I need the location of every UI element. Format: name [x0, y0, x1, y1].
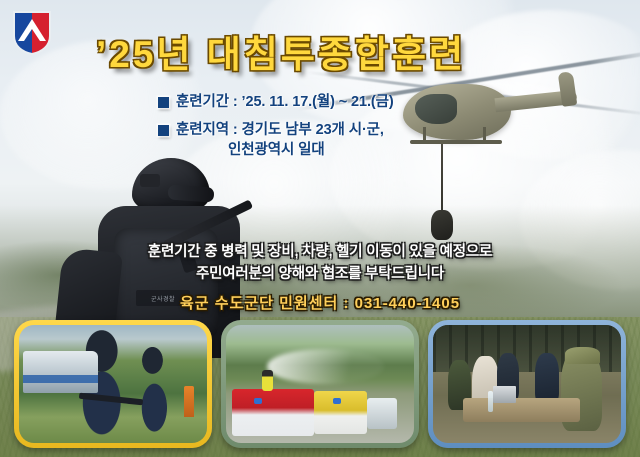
bullet-row-training-area: 훈련지역 : 경기도 남부 23개 시·군,인천광역시 일대	[158, 120, 588, 161]
police-bus	[23, 351, 98, 393]
notice-line-1: 훈련기간 중 병력 및 장비, 차량, 헬기 이동이 있을 예정으로	[0, 241, 640, 263]
camouflage-cap	[565, 347, 601, 364]
bus-stripe	[23, 375, 98, 383]
rappelling-soldier	[431, 210, 453, 240]
notice-line-2: 주민여러분의 양해와 협조를 부탁드립니다	[0, 263, 640, 285]
photo-card-fire	[221, 320, 419, 448]
bullet-row-training-period: 훈련기간 : ’25. 11. 17.(월) ~ 21.(금)	[158, 92, 588, 113]
firefighter-figure	[262, 370, 273, 391]
police-scene	[19, 325, 207, 443]
water-bottle-icon	[488, 391, 494, 412]
photo-fire-drill	[226, 325, 414, 443]
fire-engine-yellow	[314, 391, 367, 433]
poster-title: ’25년 대침투종합훈련	[96, 24, 566, 78]
water-spray	[267, 349, 384, 384]
training-area-line1: 훈련지역 : 경기도 남부 23개 시·군,	[176, 122, 384, 138]
training-area-text: 훈련지역 : 경기도 남부 23개 시·군,인천광역시 일대	[176, 120, 384, 161]
command-post-scene	[433, 325, 621, 443]
square-bullet-icon	[158, 97, 169, 108]
person-figure	[535, 353, 559, 403]
night-vision-mount-icon	[140, 174, 160, 187]
rifle-icon	[79, 392, 143, 405]
helmet-visor	[168, 184, 215, 202]
notice-message-block: 훈련기간 중 병력 및 장비, 차량, 헬기 이동이 있을 예정으로 주민여러분…	[0, 241, 640, 313]
fire-engine-red	[232, 389, 315, 436]
photo-police-drill	[19, 325, 207, 443]
emergency-light-icon	[254, 398, 262, 404]
army-shield-emblem	[12, 10, 52, 56]
training-area-line2: 인천광역시 일대	[176, 140, 384, 161]
laptop-icon	[493, 386, 516, 403]
photo-card-police	[14, 320, 212, 448]
photo-command-post	[433, 325, 621, 443]
emergency-light-icon	[333, 398, 341, 404]
meeting-table	[463, 398, 580, 422]
contact-line: 육군 수도군단 민원센터 : 031-440-1405	[0, 292, 640, 313]
fire-scene	[226, 325, 414, 443]
training-announcement-poster: 군사경찰 ’25년 대침투종합훈련 훈련기간 : ’25. 11. 17.(월)…	[0, 0, 640, 457]
photo-strip	[14, 320, 626, 448]
square-bullet-icon	[158, 125, 169, 136]
info-bullet-list: 훈련기간 : ’25. 11. 17.(월) ~ 21.(금) 훈련지역 : 경…	[158, 92, 588, 168]
training-period-text: 훈련기간 : ’25. 11. 17.(월) ~ 21.(금)	[176, 92, 394, 113]
traffic-cone-icon	[184, 386, 193, 417]
support-vehicle	[367, 398, 397, 429]
photo-card-command-post	[428, 320, 626, 448]
